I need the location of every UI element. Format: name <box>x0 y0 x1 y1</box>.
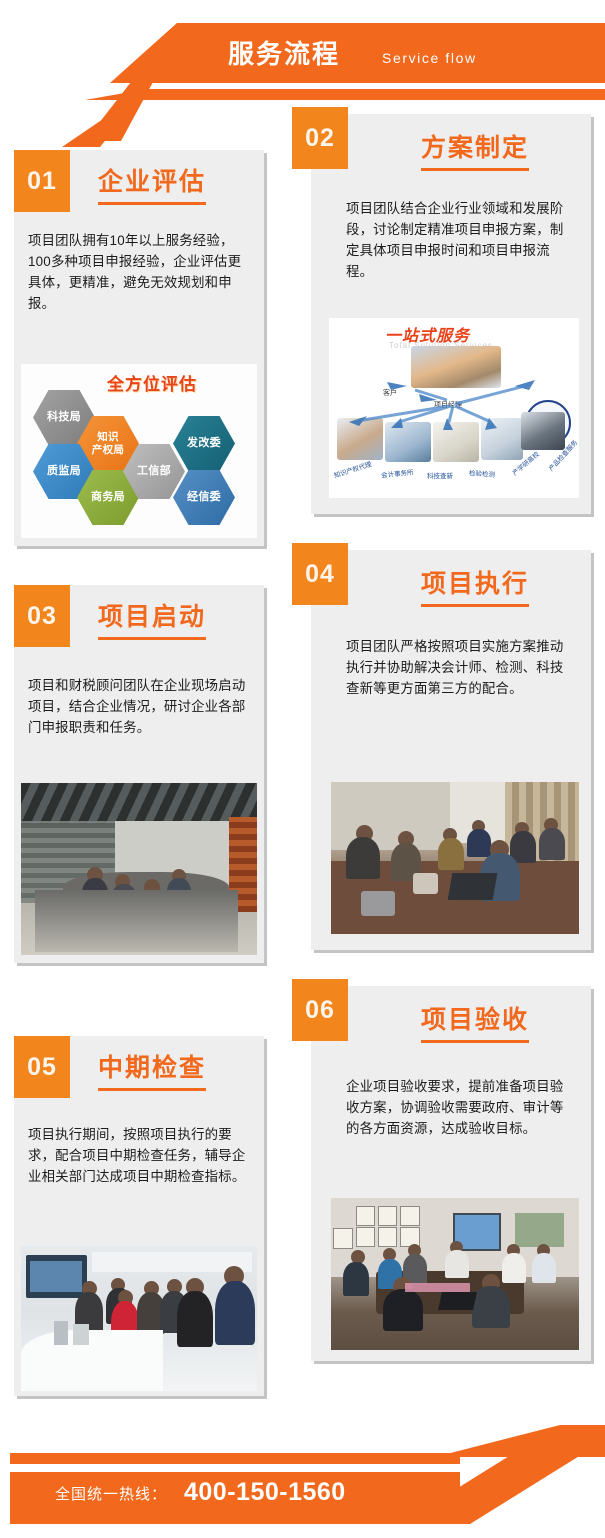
card-body-text: 企业项目验收要求，提前准备项目验收方案，协调验收需要政府、审计等的各方面资源，达… <box>346 1076 574 1139</box>
onestop-photo-2 <box>385 422 431 462</box>
footer-stripe <box>10 1453 460 1464</box>
card-title: 企业评估 <box>98 162 206 205</box>
onestop-photo-4 <box>481 418 523 460</box>
photo-conference-room <box>21 783 257 955</box>
onestop-center-photo <box>411 346 501 388</box>
hex-node-jingxin: 经信委 <box>173 470 235 525</box>
onestop-bottom-label-3: 科技查新 <box>427 470 453 480</box>
card-badge-number: 05 <box>14 1036 70 1098</box>
card-body-text: 项目团队严格按照项目实施方案推动执行并协助解决会计师、检测、科技查新等更方面第三… <box>346 636 576 699</box>
card-body-text: 项目和财税顾问团队在企业现场启动项目，结合企业情况，研讨企业各部门申报职责和任务… <box>28 675 248 738</box>
onestop-label-customer: 客户 <box>383 388 397 398</box>
process-card-04: 04 项目执行 项目团队严格按照项目实施方案推动执行并协助解决会计师、检测、科技… <box>311 550 591 950</box>
hexagon-figure-title: 全方位评估 <box>107 370 197 395</box>
photo-showroom-visit <box>21 1246 257 1391</box>
page-footer: 全国统一热线： 400-150-1560 <box>0 1420 605 1538</box>
service-flow-poster: 服务流程 Service flow 01 企业评估 项目团队拥有10年以上服务经… <box>0 0 605 1538</box>
hotline-label: 全国统一热线： <box>55 1483 167 1504</box>
card-title: 中期检查 <box>98 1048 206 1091</box>
card-badge-number: 04 <box>292 543 348 605</box>
page-subtitle: Service flow <box>382 45 477 71</box>
page-title: 服务流程 <box>228 34 340 74</box>
process-card-03: 03 项目启动 项目和财税顾问团队在企业现场启动项目，结合企业情况，研讨企业各部… <box>14 585 264 963</box>
one-stop-service-infographic: 一站式服务 Total Solution Services 客户 项目经理 IS… <box>329 318 579 498</box>
photo-acceptance-meeting <box>331 1198 579 1350</box>
onestop-photo-5 <box>521 412 565 450</box>
card-badge-number: 01 <box>14 150 70 212</box>
card-title: 方案制定 <box>421 128 529 171</box>
card-badge-number: 02 <box>292 107 348 169</box>
process-card-01: 01 企业评估 项目团队拥有10年以上服务经验，100多种项目申报经验，企业评估… <box>14 150 264 546</box>
card-body-text: 项目团队拥有10年以上服务经验，100多种项目申报经验，企业评估更具体，更精准，… <box>28 230 246 314</box>
card-title: 项目启动 <box>98 597 206 640</box>
card-badge-number: 06 <box>292 979 348 1041</box>
card-badge-number: 03 <box>14 585 70 647</box>
onestop-bottom-label-2: 会计事务所 <box>381 466 414 479</box>
onestop-label-manager: 项目经理 <box>434 400 462 410</box>
card-body-text: 项目执行期间，按照项目执行的要求，配合项目中期检查任务，辅导企业相关部门达成项目… <box>28 1124 248 1187</box>
hotline-number[interactable]: 400-150-1560 <box>184 1478 346 1507</box>
photo-meeting-laptops <box>331 782 579 934</box>
header-stripe <box>85 89 605 100</box>
header-banner <box>110 23 605 83</box>
card-body-text: 项目团队结合企业行业领域和发展阶段，讨论制定精准项目申报方案，制定具体项目申报时… <box>346 198 574 282</box>
card-title: 项目执行 <box>421 564 529 607</box>
card-title: 项目验收 <box>421 1000 529 1043</box>
process-card-06: 06 项目验收 企业项目验收要求，提前准备项目验收方案，协调验收需要政府、审计等… <box>311 986 591 1361</box>
onestop-bottom-label-4: 检验检测 <box>469 467 496 479</box>
process-card-05: 05 中期检查 项目执行期间，按照项目执行的要求，配合项目中期检查任务，辅导企业… <box>14 1036 264 1396</box>
page-header: 服务流程 Service flow <box>0 0 605 110</box>
onestop-photo-1 <box>337 418 383 460</box>
onestop-photo-3 <box>433 422 479 462</box>
hex-node-fagai: 发改委 <box>173 416 235 471</box>
process-card-02: 02 方案制定 项目团队结合企业行业领域和发展阶段，讨论制定精准项目申报方案，制… <box>311 114 591 514</box>
hexagon-infographic: 全方位评估 科技局 知识 产权局 质监局 商务局 工信部 发改委 经信委 <box>21 364 257 538</box>
onestop-bottom-label-1: 知识产权代理 <box>332 458 372 480</box>
